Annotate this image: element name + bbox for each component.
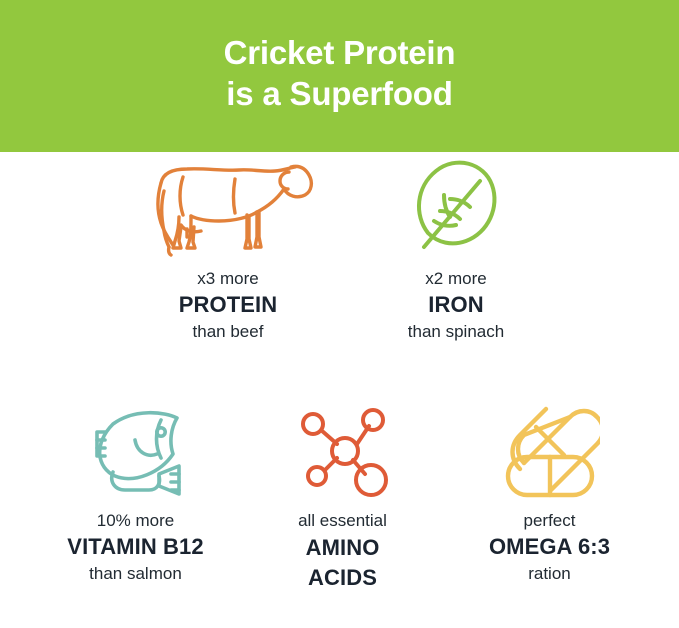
fact-bottom-line: than beef (179, 319, 278, 344)
fact-top-line: x3 more (179, 266, 278, 291)
molecule-icon (295, 400, 391, 504)
headline-line-2: is a Superfood (226, 73, 452, 114)
fact-card-protein: x3 more PROTEIN than beef (114, 152, 342, 344)
fact-caption-omega: perfect OMEGA 6:3 ration (489, 508, 610, 586)
fact-main-line: VITAMIN B12 (67, 533, 203, 561)
fact-caption-vitamin-b12: 10% more VITAMIN B12 than salmon (67, 508, 203, 586)
fact-top-line: perfect (489, 508, 610, 533)
fact-bottom-line: than salmon (67, 561, 203, 586)
fact-main-line: PROTEIN (179, 291, 278, 319)
fact-main-line: AMINO (298, 533, 387, 563)
leaf-icon (410, 152, 502, 262)
fact-card-amino-acids: all essential AMINO ACIDS (239, 400, 446, 593)
headline-banner: Cricket Protein is a Superfood (0, 0, 679, 152)
fact-card-omega: perfect OMEGA 6:3 ration (446, 400, 653, 593)
facts-row-top: x3 more PROTEIN than beef (0, 152, 679, 344)
fact-caption-iron: x2 more IRON than spinach (408, 266, 504, 344)
fact-card-vitamin-b12: 10% more VITAMIN B12 than salmon (32, 400, 239, 593)
capsule-icon (500, 400, 600, 504)
facts-row-bottom: 10% more VITAMIN B12 than salmon (0, 400, 679, 593)
fact-caption-protein: x3 more PROTEIN than beef (179, 266, 278, 344)
fact-bottom-line: than spinach (408, 319, 504, 344)
fact-top-line: 10% more (67, 508, 203, 533)
headline-line-1: Cricket Protein (224, 32, 456, 73)
cow-icon (139, 152, 317, 262)
fact-top-line: x2 more (408, 266, 504, 291)
fact-bottom-line: ACIDS (298, 563, 387, 593)
fact-card-iron: x2 more IRON than spinach (342, 152, 570, 344)
fact-top-line: all essential (298, 508, 387, 533)
fact-main-line: IRON (408, 291, 504, 319)
fact-main-line: OMEGA 6:3 (489, 533, 610, 561)
facts-grid: x3 more PROTEIN than beef (0, 152, 679, 628)
fish-icon (83, 400, 189, 504)
fact-bottom-line: ration (489, 561, 610, 586)
fact-caption-amino-acids: all essential AMINO ACIDS (298, 508, 387, 593)
